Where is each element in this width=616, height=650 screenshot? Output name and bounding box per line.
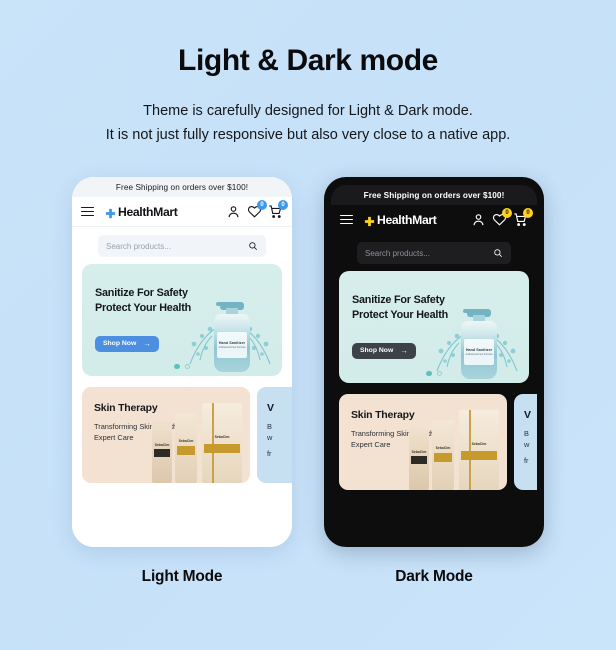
tube-brand-a: SeboCim bbox=[152, 443, 172, 447]
card-title: V bbox=[267, 402, 274, 414]
tube-brand-b: SeboCim bbox=[175, 439, 197, 443]
announcement-bar: Free Shipping on orders over $100! bbox=[72, 177, 292, 197]
skincare-tubes-image: SeboCim SeboCim SeboCim bbox=[407, 402, 503, 490]
dark-mode-label: Dark Mode bbox=[395, 568, 472, 585]
card-title: Skin Therapy bbox=[351, 409, 415, 421]
category-card-skin-therapy[interactable]: Skin Therapy Transforming Skin Health wi… bbox=[339, 394, 507, 490]
search-input[interactable]: Search products... bbox=[98, 235, 266, 257]
hero-banner-slide[interactable]: Sanitize For Safety Protect Your Health … bbox=[82, 264, 282, 376]
search-section: Search products... bbox=[72, 227, 292, 264]
label-cell-light: Light Mode bbox=[72, 568, 292, 586]
card-title: Skin Therapy bbox=[94, 402, 158, 414]
subtitle-line-1: Theme is carefully designed for Light & … bbox=[0, 100, 616, 124]
sanitizer-bottle-image: Hand Sanitizer Antibacterial Gel Formula bbox=[194, 270, 268, 374]
hamburger-menu-icon[interactable] bbox=[340, 215, 353, 225]
banner-headline: Sanitize For Safety Protect Your Health bbox=[95, 286, 191, 315]
shop-now-button[interactable]: Shop Now → bbox=[352, 343, 416, 359]
bottle-shape: Hand Sanitizer Antibacterial Gel Formula bbox=[214, 296, 250, 372]
subtitle-line-2: It is not just fully responsive but also… bbox=[0, 124, 616, 148]
category-card-skin-therapy[interactable]: Skin Therapy Transforming Skin Health wi… bbox=[82, 387, 250, 483]
medical-cross-icon bbox=[364, 214, 375, 225]
category-cards-row: Skin Therapy Transforming Skin Health wi… bbox=[72, 376, 292, 483]
card-desc-line-2: w bbox=[524, 440, 529, 449]
carousel-dot-2[interactable] bbox=[437, 371, 443, 377]
carousel-dot-1[interactable] bbox=[174, 364, 180, 370]
card-price: fr bbox=[267, 449, 272, 458]
card-desc-line-2: w bbox=[267, 433, 272, 442]
user-icon[interactable] bbox=[471, 212, 486, 227]
search-section: Search products... bbox=[331, 234, 537, 271]
banner-headline-line-1: Sanitize For Safety bbox=[95, 286, 191, 301]
page-header: Light & Dark mode Theme is carefully des… bbox=[0, 0, 616, 148]
shop-now-button[interactable]: Shop Now → bbox=[95, 336, 159, 352]
search-icon[interactable] bbox=[493, 248, 503, 258]
tube-medium: SeboCim bbox=[175, 413, 197, 483]
arrow-right-icon: → bbox=[400, 347, 408, 355]
hero-banner-area: Sanitize For Safety Protect Your Health … bbox=[72, 264, 292, 376]
navbar-actions: 0 0 bbox=[471, 212, 528, 227]
medical-cross-icon bbox=[105, 206, 116, 217]
brand-name: HealthMart bbox=[118, 205, 177, 219]
heart-icon[interactable]: 0 bbox=[492, 212, 507, 227]
carousel-dots bbox=[174, 364, 190, 370]
card-description: B w bbox=[524, 428, 537, 451]
tube-brand-b: SeboCim bbox=[432, 446, 454, 450]
search-icon[interactable] bbox=[248, 241, 258, 251]
bottle-product-name: Hand Sanitizer bbox=[219, 341, 245, 345]
phone-mockup-light: Free Shipping on orders over $100! Healt… bbox=[72, 177, 292, 547]
phone-mockups-row: Free Shipping on orders over $100! Healt… bbox=[0, 177, 616, 547]
user-icon[interactable] bbox=[226, 204, 241, 219]
bottle-label: Hand Sanitizer Antibacterial Gel Formula bbox=[217, 332, 247, 358]
phone-screen-light: Free Shipping on orders over $100! Healt… bbox=[72, 177, 292, 547]
search-input[interactable]: Search products... bbox=[357, 242, 511, 264]
shopping-cart-icon[interactable]: 0 bbox=[513, 212, 528, 227]
shop-now-label: Shop Now bbox=[103, 340, 136, 347]
carousel-dots bbox=[426, 371, 442, 377]
shop-now-label: Shop Now bbox=[360, 347, 393, 354]
tube-small: SeboCim bbox=[409, 428, 429, 490]
label-cell-dark: Dark Mode bbox=[324, 568, 544, 586]
tube-box: SeboCim bbox=[202, 403, 242, 483]
banner-headline-line-2: Protect Your Health bbox=[95, 301, 191, 316]
tube-box: SeboCim bbox=[459, 410, 499, 490]
hamburger-menu-icon[interactable] bbox=[81, 207, 94, 217]
phone-shell-light: Free Shipping on orders over $100! Healt… bbox=[72, 177, 292, 547]
carousel-dot-2[interactable] bbox=[185, 364, 191, 370]
app-navbar: HealthMart 0 0 bbox=[331, 205, 537, 234]
skincare-tubes-image: SeboCim SeboCim SeboCim bbox=[150, 395, 246, 483]
sanitizer-bottle-image: Hand Sanitizer Antibacterial Gel Formula bbox=[441, 277, 515, 381]
bottle-product-sub: Antibacterial Gel Formula bbox=[219, 346, 246, 349]
mode-labels-row: Light Mode Dark Mode bbox=[0, 568, 616, 586]
category-card-vitamins[interactable]: V B w fr bbox=[514, 394, 537, 490]
hero-banner-slide[interactable]: Sanitize For Safety Protect Your Health … bbox=[339, 271, 529, 383]
tube-brand-c: SeboCim bbox=[202, 435, 242, 439]
page-subtitle: Theme is carefully designed for Light & … bbox=[0, 100, 616, 148]
hero-banner-area: Sanitize For Safety Protect Your Health … bbox=[331, 271, 537, 383]
card-desc-line-1: B bbox=[267, 422, 272, 431]
bottle-label: Hand Sanitizer Antibacterial Gel Formula bbox=[464, 339, 494, 365]
category-cards-row: Skin Therapy Transforming Skin Health wi… bbox=[331, 383, 537, 490]
navbar-actions: 0 0 bbox=[226, 204, 283, 219]
phone-screen-dark: Free Shipping on orders over $100! Healt… bbox=[331, 185, 537, 539]
search-placeholder: Search products... bbox=[365, 249, 487, 258]
light-mode-label: Light Mode bbox=[142, 568, 223, 585]
carousel-dot-1[interactable] bbox=[426, 371, 432, 377]
page-title: Light & Dark mode bbox=[0, 44, 616, 78]
card-desc-line-1: B bbox=[524, 429, 529, 438]
card-title: V bbox=[524, 409, 531, 421]
arrow-right-icon: → bbox=[143, 340, 151, 348]
bottle-shape: Hand Sanitizer Antibacterial Gel Formula bbox=[461, 303, 497, 379]
brand-logo[interactable]: HealthMart bbox=[105, 205, 177, 219]
brand-name: HealthMart bbox=[377, 213, 436, 227]
brand-logo[interactable]: HealthMart bbox=[364, 213, 436, 227]
phone-mockup-dark: Free Shipping on orders over $100! Healt… bbox=[324, 177, 544, 547]
bottle-product-name: Hand Sanitizer bbox=[466, 348, 492, 352]
wishlist-count-badge: 0 bbox=[257, 200, 267, 210]
wishlist-count-badge: 0 bbox=[502, 208, 512, 218]
phone-shell-dark: Free Shipping on orders over $100! Healt… bbox=[324, 177, 544, 547]
search-placeholder: Search products... bbox=[106, 242, 242, 251]
cart-count-badge: 0 bbox=[523, 208, 533, 218]
card-price: fr bbox=[524, 456, 529, 465]
bottle-product-sub: Antibacterial Gel Formula bbox=[466, 353, 493, 356]
tube-small: SeboCim bbox=[152, 421, 172, 483]
category-card-vitamins[interactable]: V B w fr bbox=[257, 387, 292, 483]
tube-brand-a: SeboCim bbox=[409, 450, 429, 454]
shopping-cart-icon[interactable]: 0 bbox=[268, 204, 283, 219]
tube-brand-c: SeboCim bbox=[459, 442, 499, 446]
app-navbar: HealthMart 0 0 bbox=[72, 197, 292, 227]
announcement-bar: Free Shipping on orders over $100! bbox=[331, 185, 537, 205]
tube-medium: SeboCim bbox=[432, 420, 454, 490]
cart-count-badge: 0 bbox=[278, 200, 288, 210]
heart-icon[interactable]: 0 bbox=[247, 204, 262, 219]
card-description: B w bbox=[267, 421, 292, 444]
